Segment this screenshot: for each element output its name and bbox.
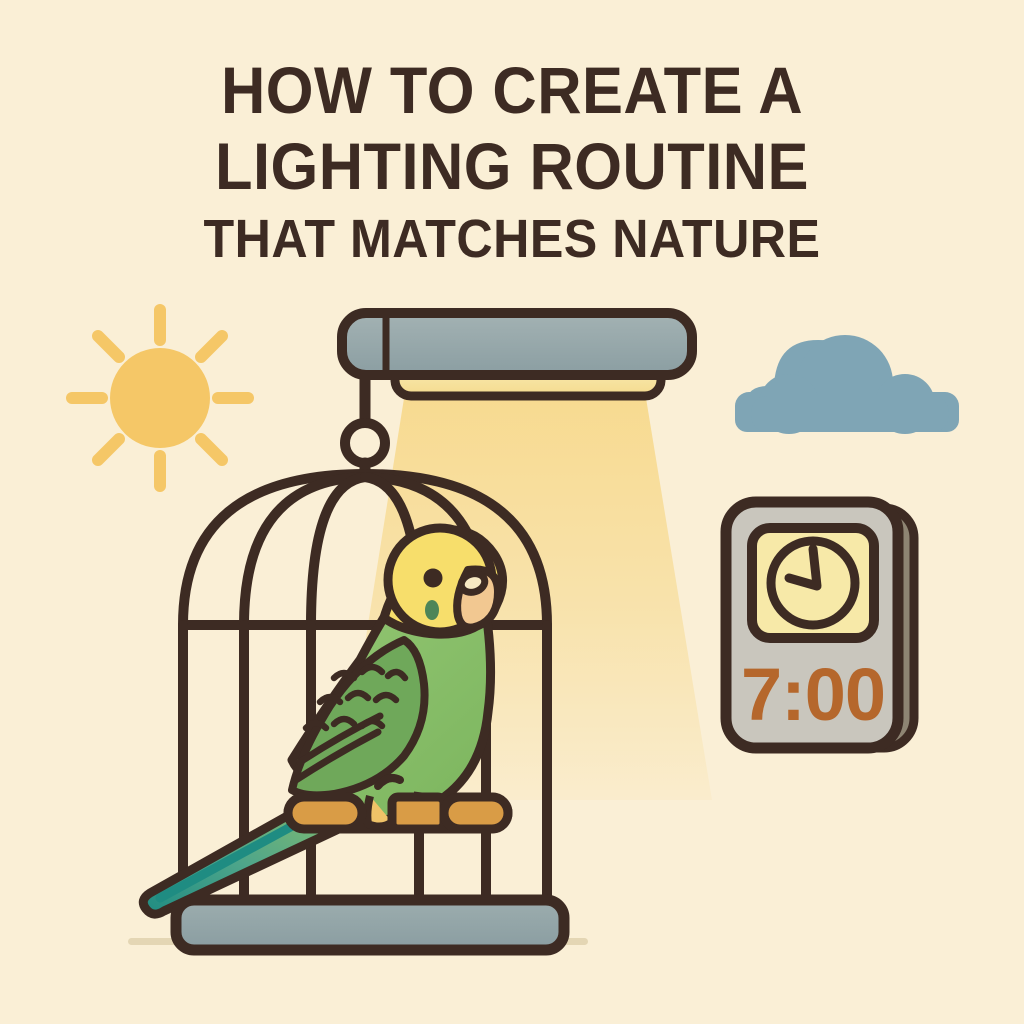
bird-eye [424, 569, 443, 588]
cage-base [176, 900, 564, 950]
bird-cere [459, 571, 487, 596]
title-line-3: THAT MATCHES NATURE [36, 204, 988, 274]
sun-icon [72, 310, 248, 486]
cage-dome-arc-1 [244, 477, 365, 625]
timer-display-time: 7:00 [741, 653, 885, 736]
title-line-1: HOW TO CREATE A [36, 52, 988, 128]
bird-cheek-spot [425, 600, 439, 620]
title-line-2: LIGHTING ROUTINE [36, 128, 988, 204]
lamp-housing [342, 313, 692, 375]
cloud-icon [735, 335, 959, 434]
budgerigar [143, 528, 502, 914]
wooden-perch-front [288, 797, 508, 829]
cage-dome-arc-3 [311, 477, 365, 625]
poster-canvas: HOW TO CREATE A LIGHTING ROUTINE THAT MA… [0, 0, 1024, 1024]
page-title: HOW TO CREATE A LIGHTING ROUTINE THAT MA… [0, 52, 1024, 274]
cage-hook-ring [345, 423, 385, 463]
